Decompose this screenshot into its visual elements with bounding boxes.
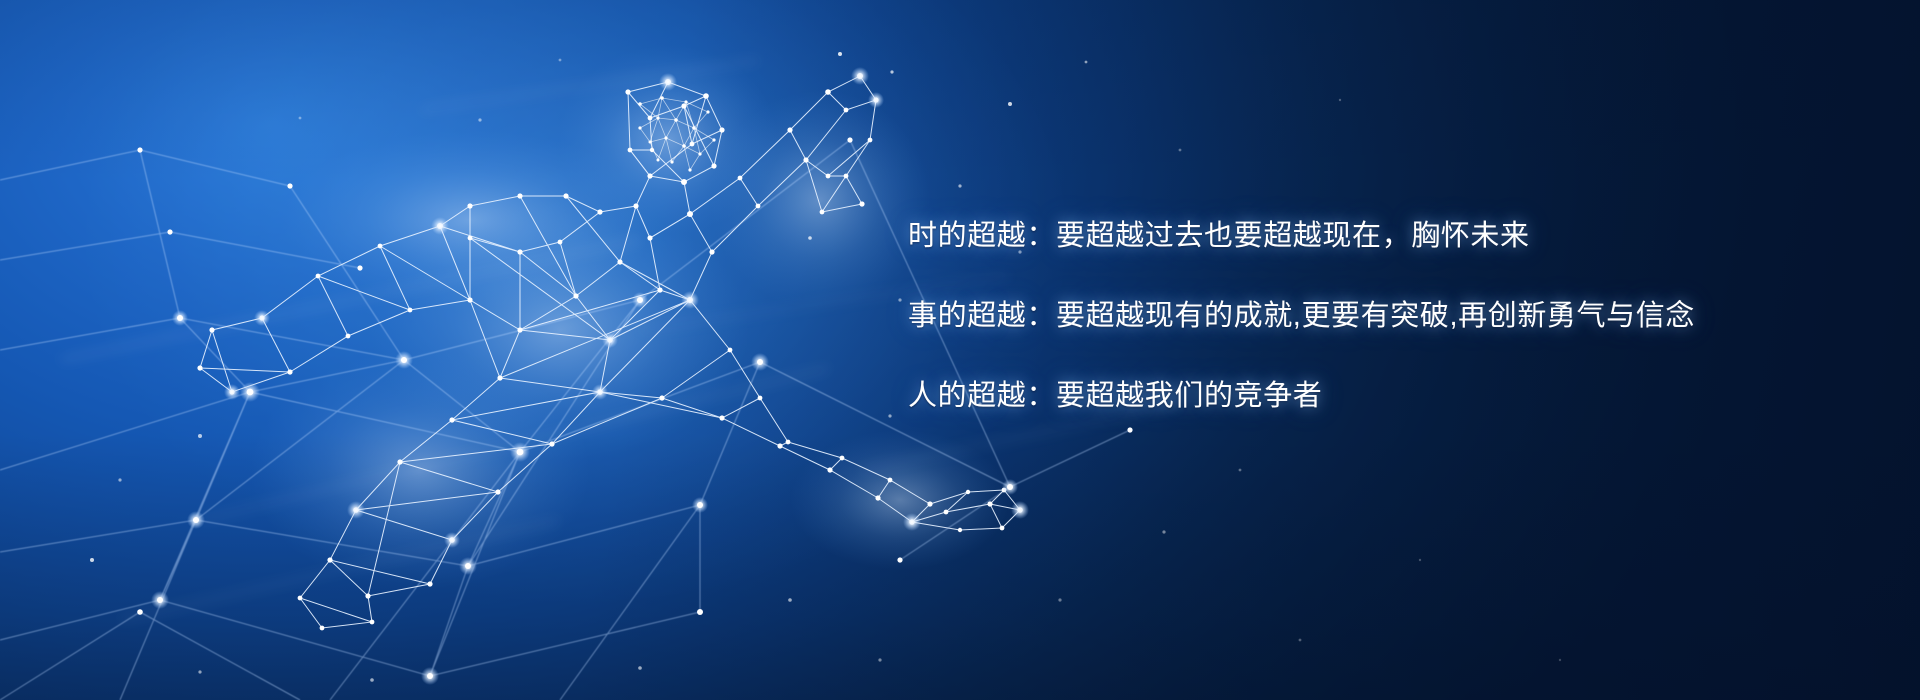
slogan-line-1: 时的超越：要超越过去也要超越现在，胸怀未来 [908, 222, 1868, 251]
slogan-line-3: 人的超越：要超越我们的竞争者 [908, 382, 1868, 411]
slogan-line-2: 事的超越：要超越现有的成就,更要有突破,再创新勇气与信念 [908, 302, 1868, 331]
hero-banner: 时的超越：要超越过去也要超越现在，胸怀未来 事的超越：要超越现有的成就,更要有突… [0, 0, 1920, 700]
slogan-text-block: 时的超越：要超越过去也要超越现在，胸怀未来 事的超越：要超越现有的成就,更要有突… [908, 222, 1868, 411]
